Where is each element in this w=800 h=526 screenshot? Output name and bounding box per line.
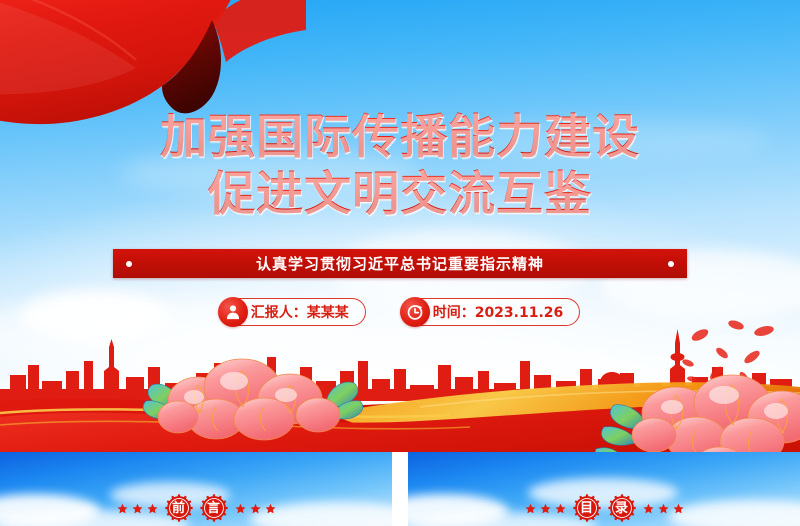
main-slide[interactable]: 加强国际传播能力建设 促进文明交流互鉴 认真学习贯彻习近平总书记重要指示精神 汇… xyxy=(0,0,800,452)
banner-dot-right xyxy=(668,261,674,267)
subtitle-text: 认真学习贯彻习近平总书记重要指示精神 xyxy=(256,253,544,274)
seal-gear-icon: 目 xyxy=(573,494,601,522)
seal-char-right: 言 xyxy=(207,502,220,515)
seal-char-left: 目 xyxy=(580,502,593,515)
stars-right xyxy=(643,503,684,514)
seal-char-right: 录 xyxy=(615,502,628,515)
star-icon xyxy=(235,503,246,514)
star-icon xyxy=(147,503,158,514)
subtitle-banner: 认真学习贯彻习近平总书记重要指示精神 xyxy=(113,249,687,278)
peony-flowers-left xyxy=(143,359,363,440)
thumbnail-preface[interactable]: 前 xyxy=(0,452,392,526)
thumbnail-title-row: 前 xyxy=(0,494,392,522)
banner-dot-left xyxy=(126,261,132,267)
thumbnail-title-row: 目 xyxy=(408,494,800,522)
star-icon xyxy=(117,503,128,514)
seal-char-left: 前 xyxy=(172,502,185,515)
stars-left xyxy=(525,503,566,514)
thumbnail-contents[interactable]: 目 xyxy=(408,452,800,526)
slide-thumbnail-strip: 前 xyxy=(0,452,800,526)
star-icon xyxy=(643,503,654,514)
star-icon xyxy=(673,503,684,514)
stars-left xyxy=(117,503,158,514)
presentation-preview: 加强国际传播能力建设 促进文明交流互鉴 认真学习贯彻习近平总书记重要指示精神 汇… xyxy=(0,0,800,526)
title-block: 加强国际传播能力建设 促进文明交流互鉴 xyxy=(0,110,800,224)
decorative-scene xyxy=(0,317,800,452)
seal-gear-icon: 录 xyxy=(608,494,636,522)
seal-gear-icon: 言 xyxy=(200,494,228,522)
stars-right xyxy=(235,503,276,514)
seal-gear-icon: 前 xyxy=(165,494,193,522)
star-icon xyxy=(658,503,669,514)
star-icon xyxy=(265,503,276,514)
title-line-2: 促进文明交流互鉴 xyxy=(0,166,800,224)
star-icon xyxy=(132,503,143,514)
star-icon xyxy=(555,503,566,514)
star-icon xyxy=(250,503,261,514)
star-icon xyxy=(540,503,551,514)
red-silk-flag xyxy=(0,0,306,125)
title-line-1: 加强国际传播能力建设 xyxy=(0,110,800,166)
star-icon xyxy=(525,503,536,514)
